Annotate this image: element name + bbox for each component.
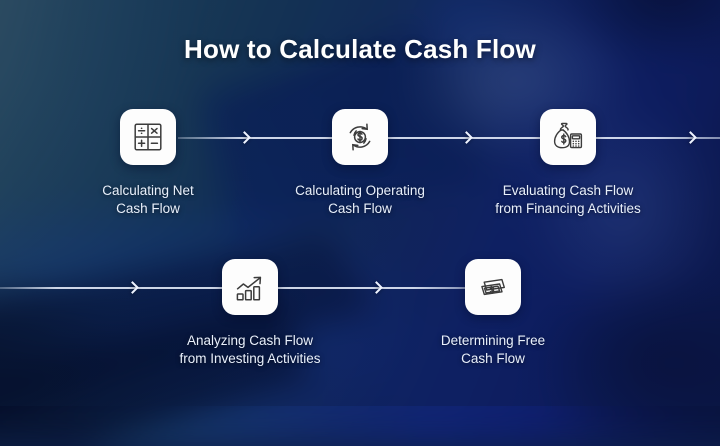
step-5-label-line2: Cash Flow <box>400 350 586 368</box>
chevron-right-icon-step3-next <box>684 131 697 144</box>
step-3-label-line1: Evaluating Cash Flow <box>460 182 676 200</box>
step-node-4[interactable]: Analyzing Cash Flow from Investing Activ… <box>142 259 358 367</box>
step-3-label: Evaluating Cash Flow from Financing Acti… <box>460 182 676 217</box>
step-4-label-line2: from Investing Activities <box>142 350 358 368</box>
growth-chart-icon <box>234 271 266 303</box>
step-node-2[interactable]: Calculating Operating Cash Flow <box>262 109 458 217</box>
step-4-label: Analyzing Cash Flow from Investing Activ… <box>142 332 358 367</box>
chevron-right-icon-step4-step5 <box>370 281 383 294</box>
step-node-5[interactable]: Determining Free Cash Flow <box>400 259 586 367</box>
chevron-right-icon-row2-entry <box>126 281 139 294</box>
step-4-label-line1: Analyzing Cash Flow <box>142 332 358 350</box>
page-title: How to Calculate Cash Flow <box>0 34 720 65</box>
infographic-canvas: How to Calculate Cash Flow <box>0 0 720 406</box>
cash-cycle-icon <box>344 121 376 153</box>
step-2-label-line1: Calculating Operating <box>262 182 458 200</box>
step-3-icon-card[interactable] <box>540 109 596 165</box>
step-node-3[interactable]: Evaluating Cash Flow from Financing Acti… <box>460 109 676 217</box>
step-3-label-line2: from Financing Activities <box>460 200 676 218</box>
step-node-1[interactable]: Calculating Net Cash Flow <box>52 109 244 217</box>
step-2-icon-card[interactable] <box>332 109 388 165</box>
step-4-icon-card[interactable] <box>222 259 278 315</box>
calculator-icon <box>132 121 164 153</box>
step-2-label-line2: Cash Flow <box>262 200 458 218</box>
step-1-label: Calculating Net Cash Flow <box>52 182 244 217</box>
step-1-label-line1: Calculating Net <box>52 182 244 200</box>
step-5-label-line1: Determining Free <box>400 332 586 350</box>
banknote-icon <box>477 271 509 303</box>
step-5-label: Determining Free Cash Flow <box>400 332 586 367</box>
step-1-icon-card[interactable] <box>120 109 176 165</box>
step-2-label: Calculating Operating Cash Flow <box>262 182 458 217</box>
money-bag-calculator-icon <box>552 121 584 153</box>
step-5-icon-card[interactable] <box>465 259 521 315</box>
step-1-label-line2: Cash Flow <box>52 200 244 218</box>
